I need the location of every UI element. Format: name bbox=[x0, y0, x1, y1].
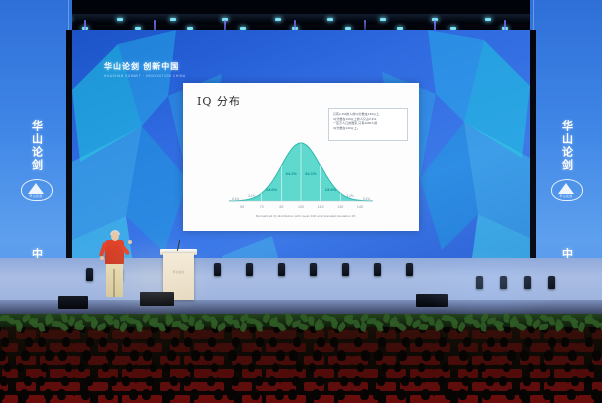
audience-head bbox=[251, 389, 260, 400]
audience-head bbox=[360, 389, 369, 400]
audience-head bbox=[571, 376, 579, 386]
audience-head bbox=[479, 363, 486, 372]
band-percent-label: 13.6% bbox=[266, 187, 278, 192]
audience-head bbox=[207, 376, 215, 386]
moving-head-light bbox=[310, 263, 317, 276]
audience-head bbox=[61, 376, 69, 386]
band-percent-label: 0.1% bbox=[363, 197, 370, 201]
audience-head bbox=[527, 363, 534, 372]
audience-head bbox=[37, 376, 45, 386]
mountain-logo-sub: 华山论剑 bbox=[21, 194, 51, 198]
audience-head bbox=[397, 389, 406, 400]
audience-head bbox=[86, 337, 94, 347]
audience-head bbox=[520, 350, 529, 361]
stage-monitor-right bbox=[416, 294, 448, 307]
audience-head bbox=[445, 389, 454, 400]
audience-head bbox=[592, 350, 601, 361]
audience-head bbox=[235, 363, 242, 372]
audience-head bbox=[228, 350, 237, 361]
leaf bbox=[256, 322, 262, 331]
audience-head bbox=[44, 389, 53, 400]
note-line: IQ分数在140以上。 bbox=[333, 126, 403, 131]
audience-head bbox=[190, 389, 199, 400]
audience-head bbox=[288, 389, 297, 400]
audience-head bbox=[1, 337, 9, 347]
moving-head-light bbox=[246, 263, 253, 276]
stage-front-greenery bbox=[0, 314, 602, 327]
audience-head bbox=[503, 363, 510, 372]
audience-head bbox=[466, 363, 473, 372]
audience-head bbox=[17, 363, 24, 372]
audience-head bbox=[57, 389, 66, 400]
audience-head bbox=[4, 363, 11, 372]
audience-head bbox=[122, 376, 130, 386]
audience-head bbox=[398, 350, 407, 361]
slide-title: IQ 分布 bbox=[197, 93, 241, 109]
moving-head-light bbox=[500, 276, 507, 289]
leaf bbox=[480, 322, 487, 331]
audience-head bbox=[378, 337, 386, 347]
truss-light bbox=[170, 18, 176, 21]
audience-head bbox=[330, 337, 338, 347]
audience-head bbox=[232, 337, 240, 347]
audience-head bbox=[187, 363, 194, 372]
moving-head-light bbox=[374, 263, 381, 276]
lighting-truss bbox=[0, 14, 602, 22]
band-percent-label: 2.1% bbox=[346, 194, 353, 198]
moving-head-light bbox=[278, 263, 285, 276]
audience-seat bbox=[362, 369, 378, 378]
audience-head bbox=[272, 363, 279, 372]
audience-head bbox=[414, 376, 422, 386]
audience-head bbox=[435, 350, 444, 361]
audience-head bbox=[25, 337, 33, 347]
audience-head bbox=[45, 350, 54, 361]
moving-head-light bbox=[548, 276, 555, 289]
audience-head bbox=[519, 389, 528, 400]
audience-head bbox=[167, 350, 176, 361]
audience-head bbox=[130, 350, 139, 361]
audience-head bbox=[591, 389, 600, 400]
audience-head bbox=[78, 363, 85, 372]
moving-head-light bbox=[524, 276, 531, 289]
led-wall-event-logo: 华山论剑 创新中国 HUASHAN SUMMIT · INNOVATION CH… bbox=[104, 61, 216, 81]
audience-head bbox=[361, 350, 370, 361]
band-percent-label: 34.1% bbox=[305, 171, 317, 176]
audience-head bbox=[292, 376, 300, 386]
x-tick-label: 85 bbox=[279, 205, 283, 209]
audience-head bbox=[337, 350, 346, 361]
audience-head bbox=[499, 376, 507, 386]
audience-head bbox=[561, 337, 569, 347]
audience-head bbox=[458, 389, 467, 400]
audience-seat bbox=[424, 330, 440, 339]
audience-head bbox=[0, 376, 8, 386]
x-tick-label: 55 bbox=[240, 205, 244, 209]
audience-head bbox=[171, 337, 179, 347]
audience-head bbox=[588, 363, 595, 372]
mountain-logo-icon: 华山论剑 bbox=[21, 176, 51, 202]
audience-head bbox=[147, 337, 155, 347]
audience-head bbox=[82, 350, 91, 361]
audience-head bbox=[421, 389, 430, 400]
banner-left-top-text: 华山论剑 bbox=[30, 120, 43, 172]
audience-head bbox=[500, 337, 508, 347]
audience-head bbox=[567, 389, 576, 400]
audience-head bbox=[41, 363, 48, 372]
audience-head bbox=[507, 350, 516, 361]
audience-head bbox=[102, 363, 109, 372]
audience-head bbox=[275, 389, 284, 400]
band-percent-label: 34.1% bbox=[286, 171, 298, 176]
audience-head bbox=[268, 376, 276, 386]
moving-head-light bbox=[476, 276, 483, 289]
stage-floor-edge bbox=[0, 300, 602, 314]
audience-head bbox=[269, 337, 277, 347]
audience-head bbox=[231, 376, 239, 386]
audience-head bbox=[129, 389, 138, 400]
audience-head bbox=[81, 389, 90, 400]
audience-head bbox=[312, 389, 321, 400]
audience-head bbox=[415, 337, 423, 347]
x-tick-label: 100 bbox=[298, 205, 304, 209]
audience-head bbox=[357, 363, 364, 372]
audience-head bbox=[584, 376, 592, 386]
audience-seat bbox=[26, 395, 46, 403]
audience-head bbox=[333, 363, 340, 372]
audience-head bbox=[402, 337, 410, 347]
audience-head bbox=[585, 337, 593, 347]
truss-light bbox=[275, 18, 281, 21]
chart-caption: Normalized IQ distribution with mean 100… bbox=[221, 214, 391, 218]
audience-head bbox=[418, 363, 425, 372]
audience-head bbox=[353, 376, 361, 386]
audience-head bbox=[401, 376, 409, 386]
x-tick-label: 70 bbox=[260, 205, 264, 209]
event-logo-main-text: 华山论剑 创新中国 bbox=[104, 61, 216, 72]
band-percent-label: 0.1% bbox=[232, 197, 239, 201]
speaker-hand-left bbox=[100, 256, 104, 260]
audience-head bbox=[564, 363, 571, 372]
stage-monitor-far-left bbox=[58, 296, 88, 309]
audience-head bbox=[85, 376, 93, 386]
audience-head bbox=[487, 337, 495, 347]
audience-head bbox=[373, 389, 382, 400]
moving-head-light bbox=[342, 263, 349, 276]
audience-head bbox=[289, 350, 298, 361]
audience-head bbox=[227, 389, 236, 400]
audience-head bbox=[255, 376, 263, 386]
podium-plate-text: 华山论剑 bbox=[163, 270, 194, 274]
audience-head bbox=[547, 376, 555, 386]
audience-head bbox=[394, 363, 401, 372]
audience-head bbox=[524, 337, 532, 347]
audience-head bbox=[483, 350, 492, 361]
audience-head bbox=[568, 350, 577, 361]
audience-head bbox=[142, 389, 151, 400]
moving-head-light bbox=[214, 263, 221, 276]
audience-head bbox=[377, 376, 385, 386]
band-percent-label: 13.6% bbox=[325, 187, 337, 192]
audience-head bbox=[293, 337, 301, 347]
audience-head bbox=[65, 363, 72, 372]
audience-head bbox=[105, 389, 114, 400]
audience-head bbox=[548, 337, 556, 347]
audience-head bbox=[439, 337, 447, 347]
presentation-slide: IQ 分布 只有2.3%的人的IQ分数在130以上, IQ分数在140以上的人只… bbox=[183, 83, 419, 231]
stage-monitor-left bbox=[140, 292, 174, 306]
x-tick-label: 115 bbox=[318, 205, 324, 209]
audience-head bbox=[438, 376, 446, 386]
audience-head bbox=[126, 363, 133, 372]
audience-head bbox=[99, 337, 107, 347]
speaker-hand-right bbox=[128, 240, 132, 244]
audience-head bbox=[191, 350, 200, 361]
audience-head bbox=[143, 350, 152, 361]
event-logo-sub-text: HUASHAN SUMMIT · INNOVATION CHINA bbox=[104, 74, 216, 78]
audience-head bbox=[422, 350, 431, 361]
truss-light bbox=[327, 18, 333, 21]
audience-head bbox=[374, 350, 383, 361]
audience-head bbox=[150, 363, 157, 372]
audience-head bbox=[523, 376, 531, 386]
audience-head bbox=[214, 389, 223, 400]
speaker-head bbox=[111, 232, 119, 241]
audience-head bbox=[462, 376, 470, 386]
audience-head bbox=[256, 337, 264, 347]
audience-head bbox=[58, 350, 67, 361]
audience-head bbox=[248, 363, 255, 372]
audience-head bbox=[204, 350, 213, 361]
audience-head bbox=[184, 337, 192, 347]
iq-distribution-chart: 557085100115130145 0.1%2.1%13.6%34.1%34.… bbox=[221, 131, 381, 213]
truss-light bbox=[485, 18, 491, 21]
audience-head bbox=[62, 337, 70, 347]
audience-head bbox=[123, 337, 131, 347]
audience-head bbox=[109, 376, 117, 386]
audience-head bbox=[544, 350, 553, 361]
audience-head bbox=[482, 389, 491, 400]
audience-head bbox=[163, 363, 170, 372]
audience-head bbox=[146, 376, 154, 386]
moving-head-light bbox=[406, 263, 413, 276]
audience-head bbox=[486, 376, 494, 386]
audience-head bbox=[506, 389, 515, 400]
audience-head bbox=[106, 350, 115, 361]
audience-head bbox=[459, 350, 468, 361]
audience-head bbox=[340, 376, 348, 386]
mountain-logo-sub: 华山论剑 bbox=[551, 194, 581, 198]
band-percent-label: 2.1% bbox=[248, 194, 255, 198]
audience-head bbox=[296, 363, 303, 372]
x-tick-label: 130 bbox=[337, 205, 343, 209]
audience-head bbox=[543, 389, 552, 400]
audience-head bbox=[354, 337, 362, 347]
audience-head bbox=[309, 363, 316, 372]
moving-head-light bbox=[86, 268, 93, 281]
audience-head bbox=[317, 337, 325, 347]
audience-head bbox=[381, 363, 388, 372]
audience-head bbox=[208, 337, 216, 347]
audience-head bbox=[336, 389, 345, 400]
audience-head bbox=[540, 363, 547, 372]
conference-stage-photo: 华山论剑 华山论剑 中国精神 华山论剑 华山论剑 中国精神 bbox=[0, 0, 602, 403]
audience-head bbox=[21, 350, 30, 361]
audience-head bbox=[463, 337, 471, 347]
x-tick-label: 145 bbox=[357, 205, 363, 209]
audience-head bbox=[211, 363, 218, 372]
banner-right-top-text: 华山论剑 bbox=[560, 120, 573, 172]
audience-head bbox=[24, 376, 32, 386]
audience-head bbox=[38, 337, 46, 347]
truss-light bbox=[117, 18, 123, 21]
audience-head bbox=[166, 389, 175, 400]
audience-head bbox=[170, 376, 178, 386]
audience-head bbox=[442, 363, 449, 372]
mountain-logo-icon: 华山论剑 bbox=[551, 176, 581, 202]
audience-head bbox=[0, 350, 6, 361]
speaker-legs bbox=[106, 263, 123, 297]
audience-head bbox=[20, 389, 29, 400]
audience-head bbox=[183, 376, 191, 386]
truss-light bbox=[380, 18, 386, 21]
x-axis-tick-labels: 557085100115130145 bbox=[240, 205, 363, 209]
audience-head bbox=[316, 376, 324, 386]
audience-head bbox=[313, 350, 322, 361]
audience-head bbox=[252, 350, 261, 361]
audience-head bbox=[276, 350, 285, 361]
